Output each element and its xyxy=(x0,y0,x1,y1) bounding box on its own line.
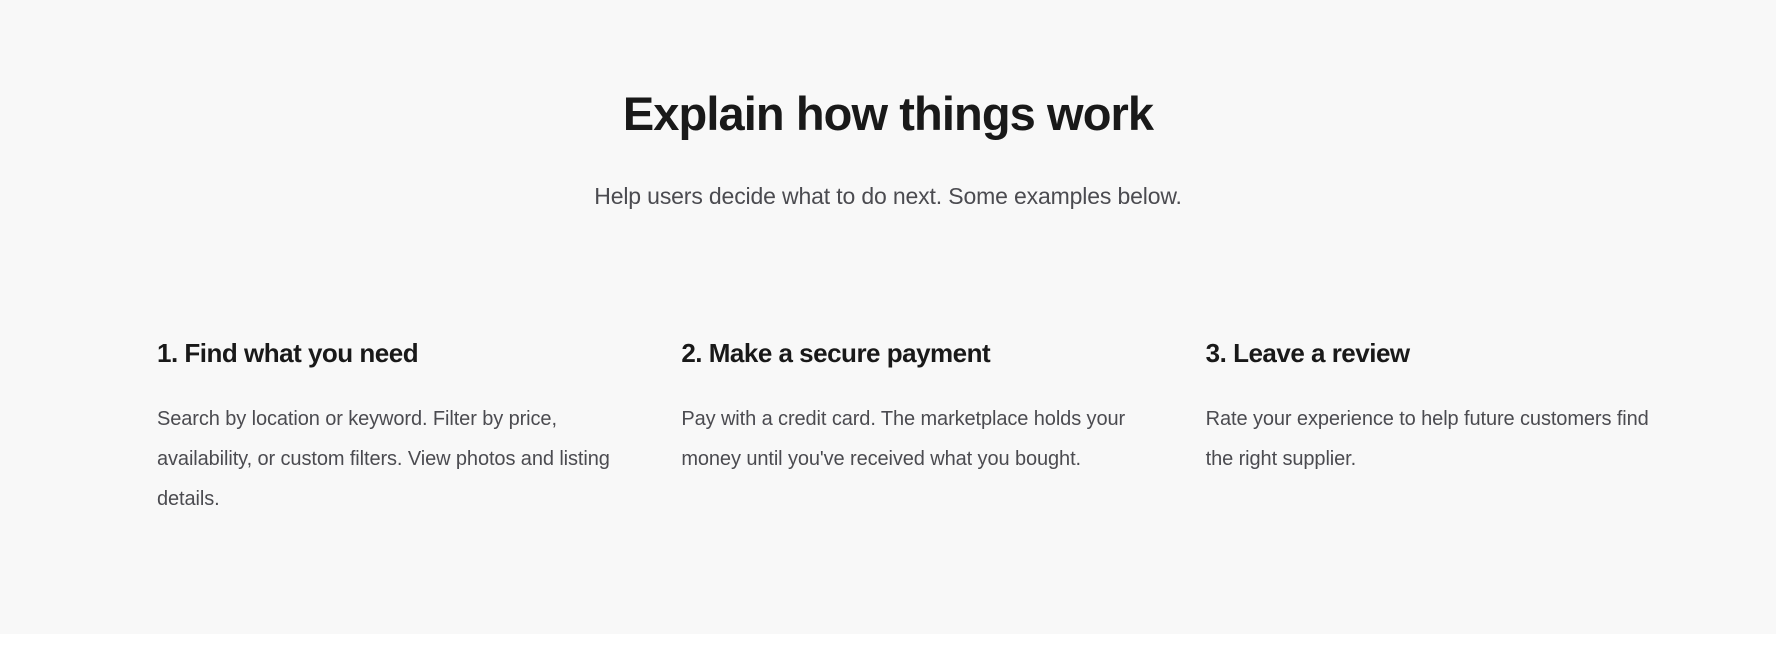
step-body-3: Rate your experience to help future cust… xyxy=(1206,370,1677,479)
section-header: Explain how things work Help users decid… xyxy=(0,0,1776,212)
step-body-1: Search by location or keyword. Filter by… xyxy=(157,370,628,519)
step-item-1: 1. Find what you need Search by location… xyxy=(157,337,628,519)
step-title-1: 1. Find what you need xyxy=(157,337,628,370)
page-subtitle: Help users decide what to do next. Some … xyxy=(0,141,1776,212)
step-item-2: 2. Make a secure payment Pay with a cred… xyxy=(681,337,1152,479)
step-title-3: 3. Leave a review xyxy=(1206,337,1677,370)
step-title-2: 2. Make a secure payment xyxy=(681,337,1152,370)
page-root: Explain how things work Help users decid… xyxy=(0,0,1776,646)
step-body-2: Pay with a credit card. The marketplace … xyxy=(681,370,1152,479)
page-title: Explain how things work xyxy=(0,88,1776,141)
step-item-3: 3. Leave a review Rate your experience t… xyxy=(1206,337,1677,479)
steps-list: 1. Find what you need Search by location… xyxy=(157,337,1677,519)
how-it-works-section: Explain how things work Help users decid… xyxy=(0,0,1776,634)
